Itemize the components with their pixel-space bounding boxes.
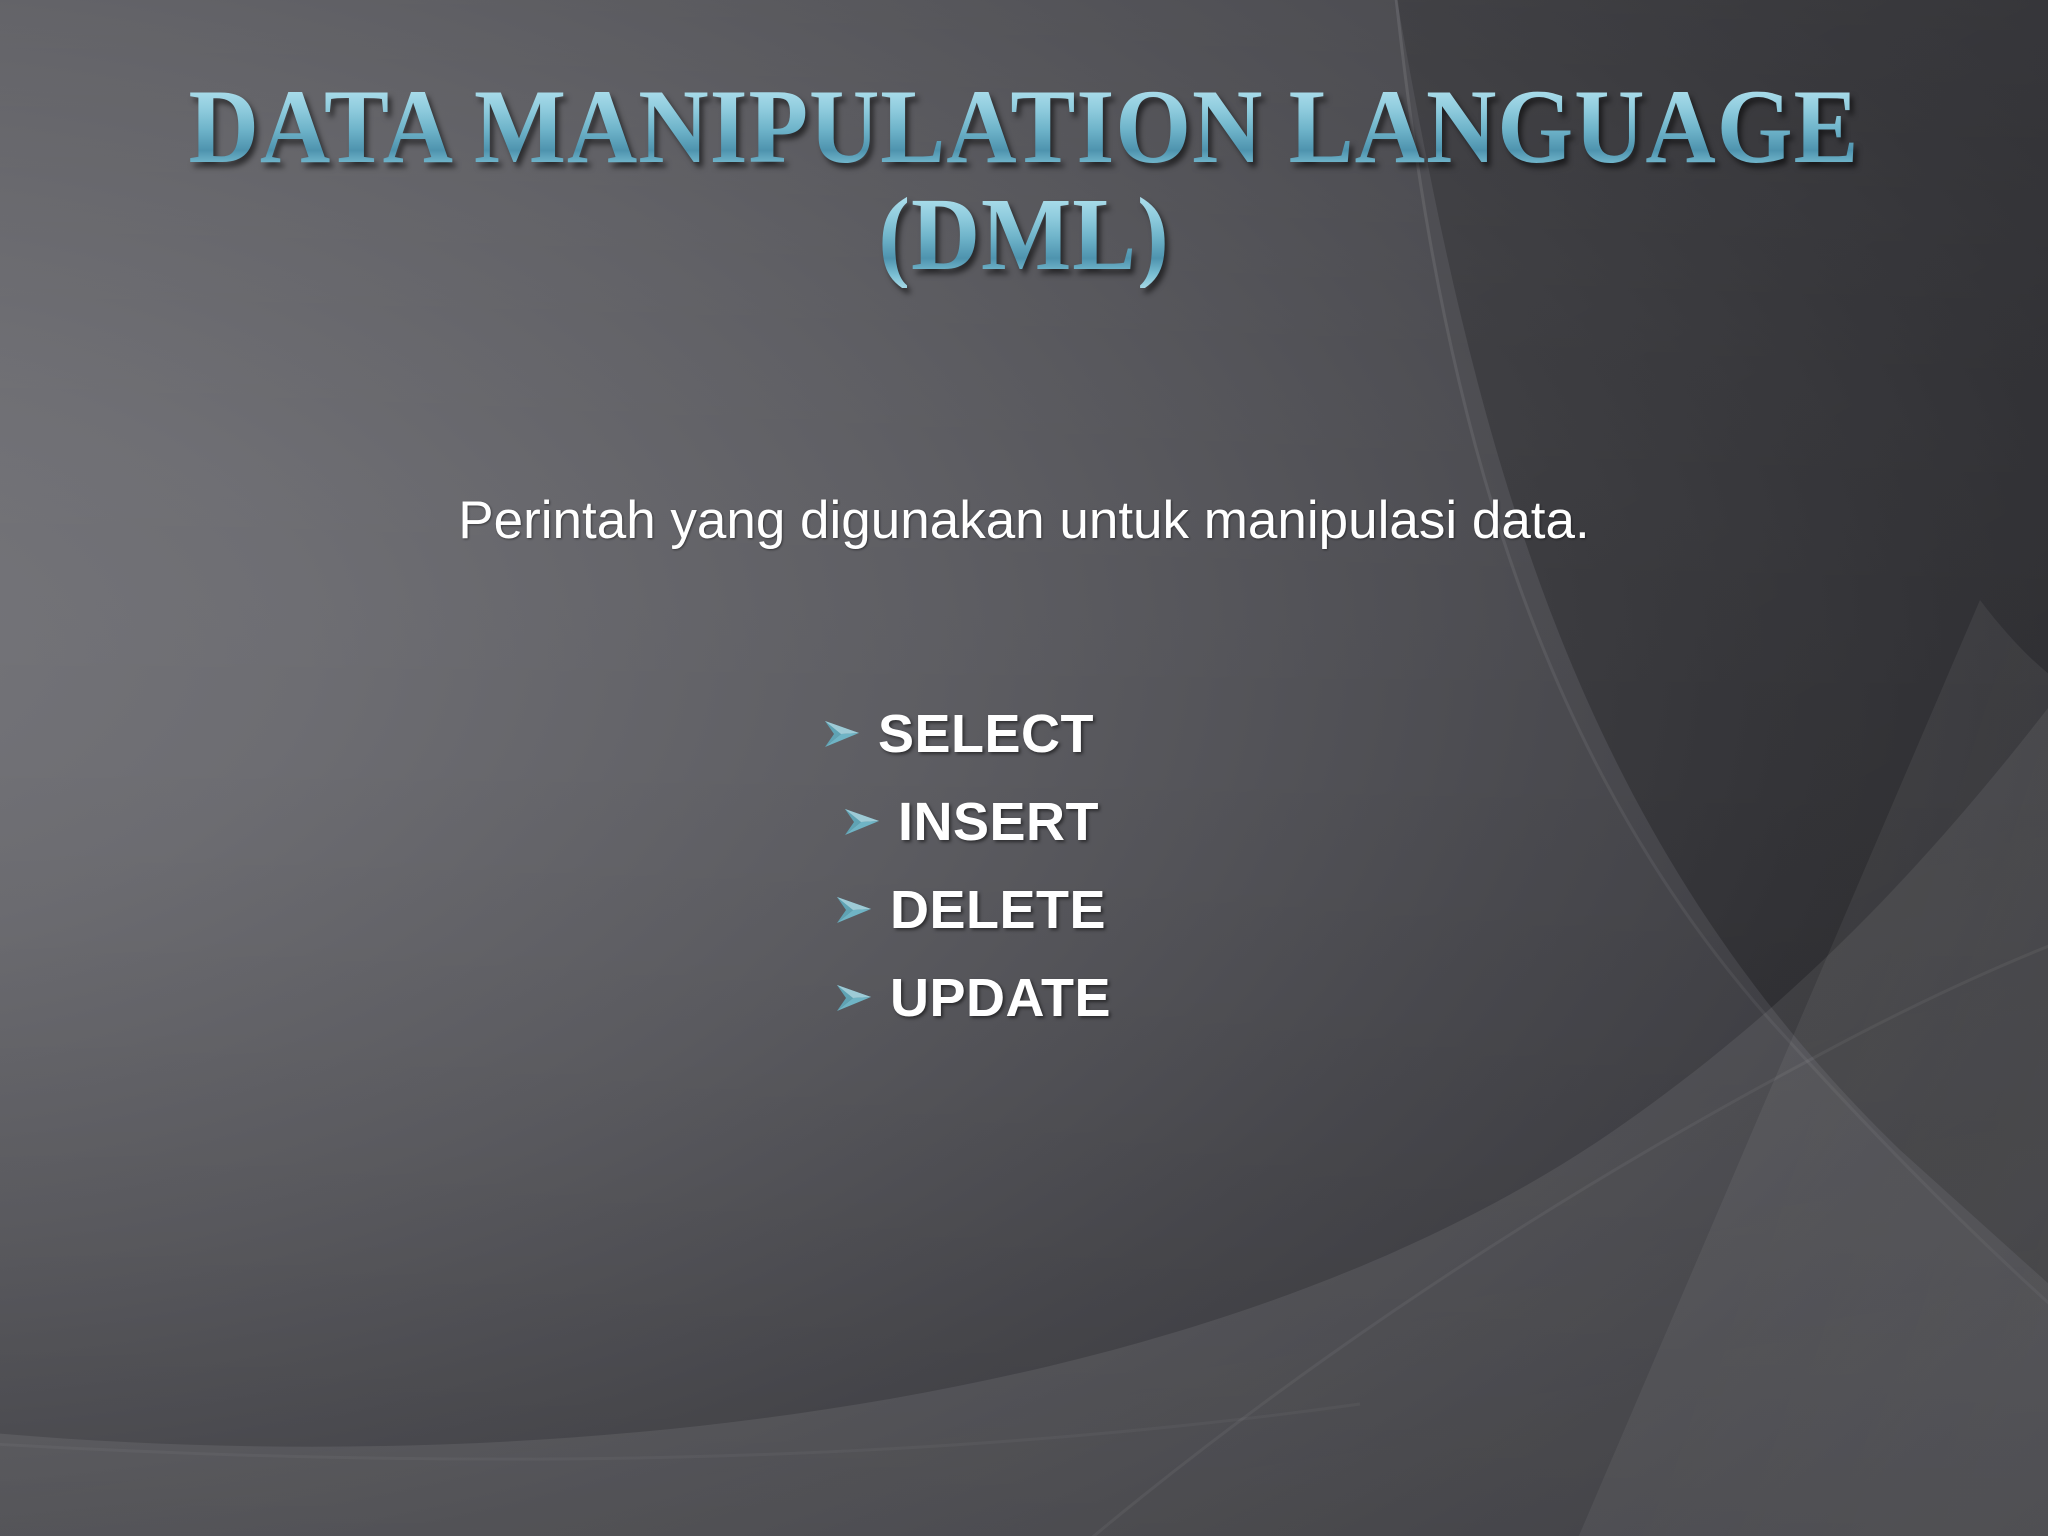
- arrowhead-bullet-icon: [832, 976, 876, 1020]
- list-item-label: SELECT: [878, 703, 1094, 765]
- arrowhead-bullet-icon: [832, 888, 876, 932]
- slide-body-text: Perintah yang digunakan untuk manipulasi…: [0, 490, 2048, 552]
- arrowhead-bullet-icon: [840, 800, 884, 844]
- list-item: UPDATE: [0, 954, 2048, 1042]
- list-item-label: DELETE: [890, 879, 1106, 941]
- slide-title: DATA MANIPULATION LANGUAGE (DML): [0, 74, 2048, 288]
- title-line-1-wrap: DATA MANIPULATION LANGUAGE: [0, 74, 2048, 180]
- arrowhead-bullet-icon: [820, 712, 864, 756]
- presentation-slide: DATA MANIPULATION LANGUAGE (DML) Perinta…: [0, 0, 2048, 1536]
- list-item: INSERT: [0, 778, 2048, 866]
- dml-command-list: SELECT INSERT DELETE: [0, 690, 2048, 1042]
- title-line-2-wrap: (DML): [0, 182, 2048, 288]
- list-item: DELETE: [0, 866, 2048, 954]
- title-line-2: (DML): [82, 182, 1966, 288]
- list-item: SELECT: [0, 690, 2048, 778]
- title-line-1: DATA MANIPULATION LANGUAGE: [82, 74, 1966, 180]
- list-item-label: UPDATE: [890, 967, 1111, 1029]
- list-item-label: INSERT: [898, 791, 1099, 853]
